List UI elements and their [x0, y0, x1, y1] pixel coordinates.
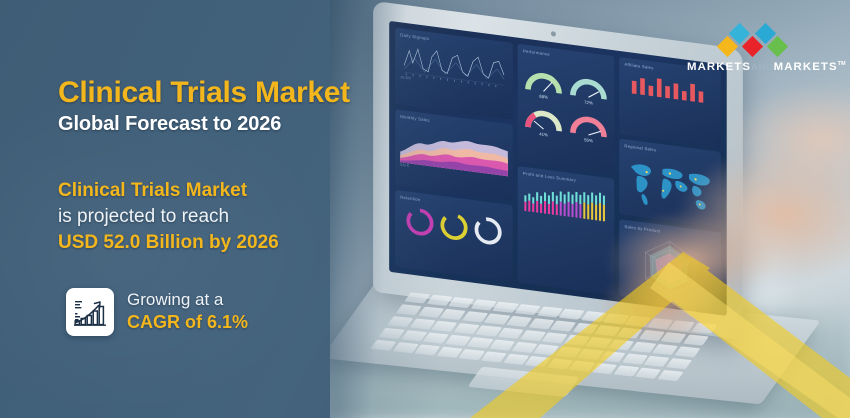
performance-panel: Performance 68% 72%	[518, 44, 614, 174]
key	[635, 367, 661, 379]
key	[503, 353, 529, 365]
page-title: Clinical Trials Market	[58, 76, 350, 110]
key	[492, 302, 518, 314]
key	[431, 321, 457, 333]
key	[691, 323, 717, 335]
svg-text:41%: 41%	[539, 131, 548, 137]
key	[437, 346, 463, 358]
key	[613, 365, 639, 377]
donut-chart-group	[400, 202, 508, 252]
key-row	[387, 316, 700, 358]
monthly-sales-metric: 512 K	[400, 162, 508, 180]
key-row	[396, 304, 709, 346]
dashboard-screen: Daily Signups	[389, 21, 727, 316]
line-chart	[400, 39, 508, 89]
key	[581, 311, 607, 323]
key	[511, 342, 537, 354]
key	[404, 292, 430, 304]
screen-glare	[580, 150, 810, 380]
retention-panel: Retention	[395, 190, 513, 282]
key	[564, 334, 590, 346]
key	[674, 346, 700, 358]
radar-chart	[624, 231, 715, 305]
key	[542, 332, 568, 344]
key	[644, 356, 670, 368]
stacked-bar-chart	[523, 177, 609, 226]
key	[547, 358, 573, 370]
key	[657, 370, 683, 382]
profit-loss-panel: Profit and Loss Summary	[518, 166, 614, 296]
key	[379, 328, 405, 340]
wordmark-markets-2: MARKETS	[774, 61, 838, 73]
key	[475, 325, 501, 337]
key	[577, 349, 603, 361]
panel-title: Performance	[523, 48, 609, 64]
key	[467, 337, 493, 349]
key	[387, 316, 413, 328]
key-row	[379, 328, 692, 370]
laptop-trackpad	[468, 367, 580, 397]
key	[396, 304, 422, 316]
key	[370, 339, 396, 351]
statement-line-2: is projected to reach	[58, 204, 279, 230]
key-row	[370, 339, 683, 381]
key	[392, 342, 418, 354]
key	[533, 344, 559, 356]
key	[669, 320, 695, 332]
key	[594, 325, 620, 337]
key	[630, 341, 656, 353]
signups-total-metric: 10,323	[400, 75, 508, 93]
svg-text:68%: 68%	[539, 94, 548, 100]
key	[514, 304, 540, 316]
market-value-statement: Clinical Trials Market is projected to r…	[58, 178, 279, 257]
key	[536, 306, 562, 318]
key	[661, 332, 687, 344]
key	[572, 323, 598, 335]
key	[683, 334, 709, 346]
wordmark-trademark: TM	[838, 61, 846, 67]
panel-title: Monthly Sales	[400, 114, 508, 133]
key	[569, 360, 595, 372]
key	[591, 363, 617, 375]
dashboard-column-right: Affiliate Sales	[619, 57, 720, 309]
brand-logo[interactable]: MARKETSANDMARKETSTM	[687, 22, 832, 73]
key	[423, 332, 449, 344]
laptop-base	[330, 274, 821, 404]
key	[506, 316, 532, 328]
cagr-line-2: CAGR of 6.1%	[127, 311, 248, 334]
key	[484, 313, 510, 325]
sales-by-product-panel: Sales by Product	[619, 220, 720, 310]
key	[603, 313, 629, 325]
wordmark-and: AND	[751, 62, 774, 73]
desk-surface	[330, 300, 850, 418]
key	[448, 297, 474, 309]
key	[440, 309, 466, 321]
key	[600, 351, 626, 363]
dashboard-column-left: Daily Signups	[395, 28, 513, 282]
cagr-text: Growing at a CAGR of 6.1%	[127, 289, 248, 334]
panel-title: Daily Signups	[400, 32, 508, 51]
hand-typing	[570, 120, 850, 380]
svg-text:55%: 55%	[584, 137, 593, 143]
key	[638, 330, 664, 342]
key	[559, 309, 585, 321]
key	[520, 330, 546, 342]
key	[647, 318, 673, 330]
cagr-badge: Growing at a CAGR of 6.1%	[66, 288, 248, 336]
key	[481, 351, 507, 363]
cagr-line-1: Growing at a	[127, 289, 248, 311]
key	[445, 335, 471, 347]
world-map-chart	[624, 150, 715, 220]
growth-bar-chart-icon	[66, 288, 114, 336]
svg-text:72%: 72%	[584, 100, 593, 106]
key	[453, 323, 479, 335]
key	[525, 356, 551, 368]
growth-bar-chart-glyph	[73, 297, 107, 327]
marketing-banner: Daily Signups	[0, 0, 850, 418]
key	[666, 358, 692, 370]
key	[459, 349, 485, 361]
laptop-keyboard	[370, 292, 717, 381]
area-chart	[400, 121, 508, 177]
key	[608, 339, 634, 351]
page-subtitle: Global Forecast to 2026	[58, 113, 281, 136]
key	[528, 318, 554, 330]
statement-line-3: USD 52.0 Billion by 2026	[58, 230, 279, 256]
forearm	[680, 60, 850, 210]
key	[616, 327, 642, 339]
key	[586, 337, 612, 349]
logo-diamonds-icon	[716, 22, 804, 58]
key-row	[404, 292, 717, 334]
logo-wordmark: MARKETSANDMARKETSTM	[687, 61, 832, 73]
statement-line-1: Clinical Trials Market	[58, 178, 279, 204]
regional-sales-panel: Regional Sales	[619, 138, 720, 228]
key	[498, 328, 524, 340]
webcam-icon	[551, 31, 556, 37]
wordmark-markets-1: MARKETS	[687, 61, 751, 73]
mini-bar-chart	[624, 69, 715, 105]
key	[401, 330, 427, 342]
daily-signups-panel: Daily Signups	[395, 28, 513, 120]
panel-title: Sales by Product	[624, 224, 715, 241]
key	[652, 344, 678, 356]
key	[470, 299, 496, 311]
key	[550, 320, 576, 332]
key	[409, 318, 435, 330]
panel-title: Retention	[400, 195, 508, 214]
key	[555, 346, 581, 358]
panel-title: Regional Sales	[624, 143, 715, 160]
key	[489, 339, 515, 351]
key	[625, 316, 651, 328]
key	[426, 295, 452, 307]
gauge-grid: 68% 72%	[523, 55, 609, 152]
diamond-center	[741, 36, 762, 57]
key	[415, 344, 441, 356]
key	[462, 311, 488, 323]
key	[622, 353, 648, 365]
key	[418, 306, 444, 318]
dashboard-column-middle: Performance 68% 72%	[518, 44, 615, 296]
panel-title: Profit and Loss Summary	[523, 170, 609, 186]
monthly-sales-panel: Monthly Sales 512 K	[395, 109, 513, 201]
